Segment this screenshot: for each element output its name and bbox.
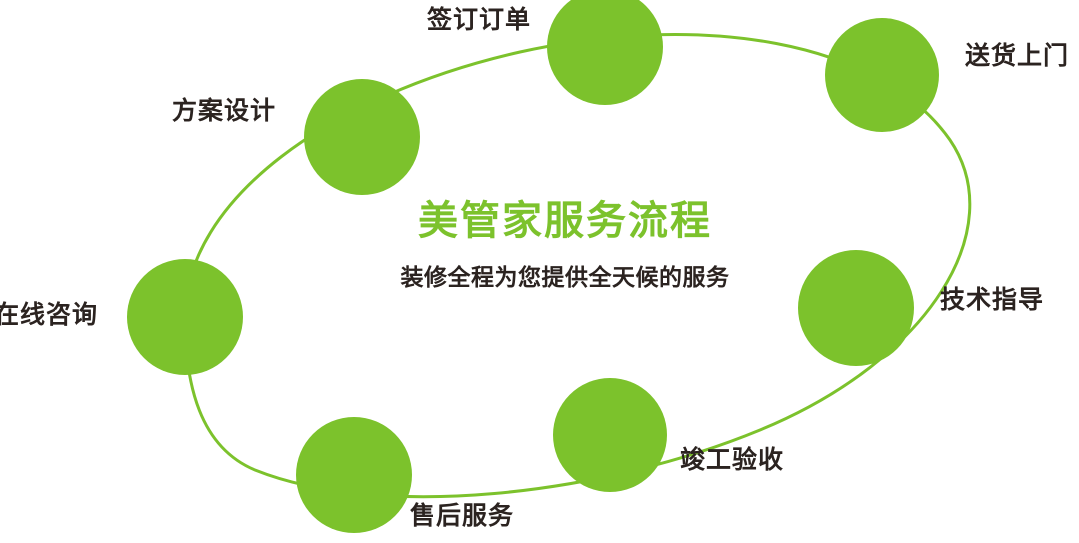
node-label-completion-check: 竣工验收 bbox=[680, 448, 784, 473]
node-circle-completion-check[interactable] bbox=[553, 378, 667, 492]
node-circle-delivery[interactable] bbox=[825, 18, 939, 132]
node-label-after-sales: 售后服务 bbox=[410, 504, 514, 529]
node-label-online-consult: 在线咨询 bbox=[0, 303, 98, 328]
node-label-sign-order: 签订订单 bbox=[427, 8, 531, 33]
service-flow-diagram: 美管家服务流程 装修全程为您提供全天候的服务 在线咨询 方案设计 签订订单 送货… bbox=[0, 0, 1079, 543]
node-circle-sign-order[interactable] bbox=[547, 0, 663, 105]
node-circle-online-consult[interactable] bbox=[127, 259, 243, 375]
flow-graphic bbox=[0, 0, 1079, 543]
node-circle-after-sales[interactable] bbox=[296, 417, 412, 533]
node-label-plan-design: 方案设计 bbox=[172, 99, 276, 124]
node-circle-plan-design[interactable] bbox=[304, 79, 420, 195]
node-label-tech-guide: 技术指导 bbox=[940, 288, 1044, 313]
node-label-delivery: 送货上门 bbox=[965, 44, 1069, 69]
node-circle-tech-guide[interactable] bbox=[798, 250, 914, 366]
